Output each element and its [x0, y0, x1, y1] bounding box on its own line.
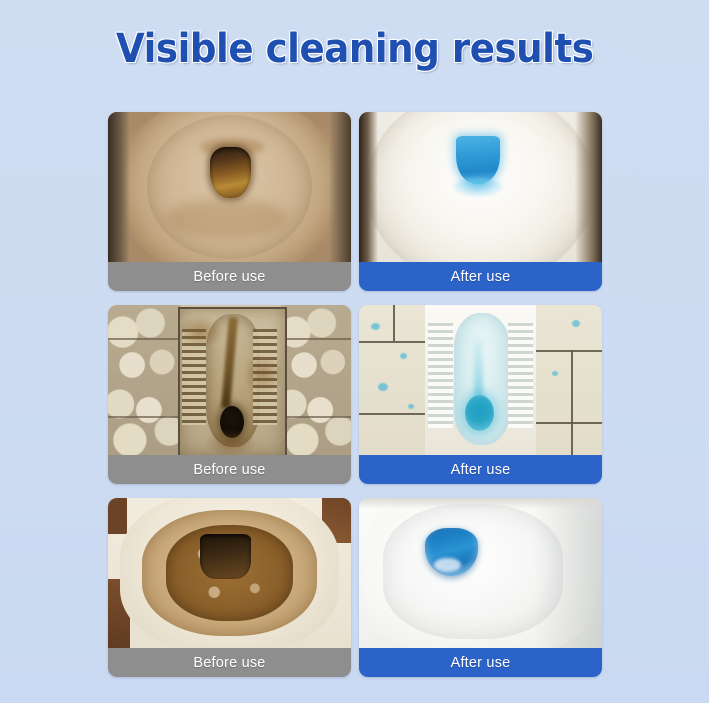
label-text: Before use [193, 655, 265, 671]
photo-before-3 [108, 498, 351, 648]
photo-after-2 [359, 305, 602, 455]
dirty-round-toilet-image [108, 112, 351, 262]
photo-before-1 [108, 112, 351, 262]
label-text: After use [451, 269, 511, 285]
comparison-card-after-3[interactable]: After use [359, 498, 602, 677]
label-before-1: Before use [108, 262, 351, 291]
comparison-row-1: Before use After use [108, 112, 603, 291]
comparison-card-before-2[interactable]: Before use [108, 305, 351, 484]
label-before-2: Before use [108, 455, 351, 484]
comparison-card-before-1[interactable]: Before use [108, 112, 351, 291]
label-before-3: Before use [108, 648, 351, 677]
comparison-card-after-1[interactable]: After use [359, 112, 602, 291]
photo-after-3 [359, 498, 602, 648]
comparison-card-before-3[interactable]: Before use [108, 498, 351, 677]
promo-page: Visible cleaning results Before use [0, 0, 709, 703]
comparison-card-after-2[interactable]: After use [359, 305, 602, 484]
dirty-oval-toilet-image [108, 498, 351, 648]
label-after-1: After use [359, 262, 602, 291]
label-after-2: After use [359, 455, 602, 484]
comparison-row-3: Before use After use [108, 498, 603, 677]
label-text: After use [451, 655, 511, 671]
label-text: Before use [193, 269, 265, 285]
label-text: Before use [193, 462, 265, 478]
dirty-squat-toilet-image [108, 305, 351, 455]
label-after-3: After use [359, 648, 602, 677]
photo-before-2 [108, 305, 351, 455]
label-text: After use [451, 462, 511, 478]
page-title-wrapper: Visible cleaning results [0, 26, 709, 78]
page-title: Visible cleaning results [116, 26, 593, 72]
photo-after-1 [359, 112, 602, 262]
clean-squat-toilet-image [359, 305, 602, 455]
comparison-row-2: Before use [108, 305, 603, 484]
clean-round-toilet-image [359, 112, 602, 262]
clean-oval-toilet-image [359, 498, 602, 648]
comparison-grid: Before use After use [108, 112, 603, 677]
